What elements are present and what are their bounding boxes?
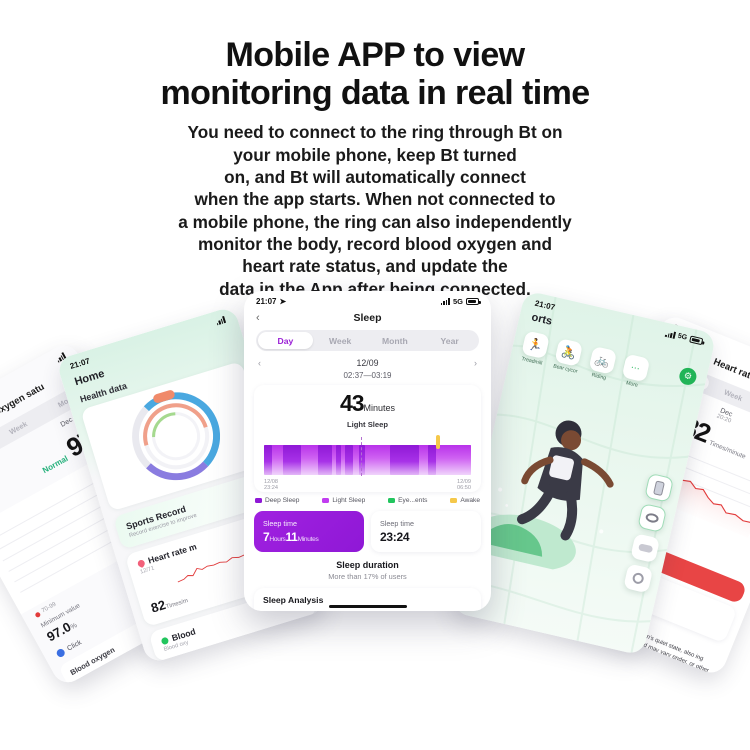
legend-label: Light Sleep: [332, 497, 365, 504]
page-title: Mobile APP to view monitoring data in re…: [0, 0, 750, 112]
analysis-title: Sleep Analysis: [263, 595, 472, 605]
axis-end-date: 12/09: [457, 479, 471, 485]
network-label: 5G: [453, 297, 463, 306]
sleep-minutes-value: 43: [340, 390, 364, 416]
signal-icon: [215, 316, 226, 325]
battery-icon: [689, 336, 703, 345]
legend-swatch-icon: [322, 498, 329, 503]
tab-year[interactable]: Year: [422, 332, 477, 349]
sleep-stage-label: Light Sleep: [254, 417, 481, 429]
gear-icon[interactable]: ⚙: [678, 366, 698, 386]
activity-bike[interactable]: 🚴 Bear cycor: [553, 338, 584, 375]
sleep-bar-segment: [283, 445, 302, 475]
sleep-bar-segment: [345, 445, 353, 475]
sleep-chart-track: [264, 445, 471, 475]
next-day-icon[interactable]: ›: [474, 358, 477, 368]
sleep-stage-chart: [264, 437, 471, 477]
period-tabs[interactable]: Day Week Month Year: [256, 330, 479, 351]
legend-eye-movements: Eye...ents: [388, 497, 427, 504]
sleep-duration-card[interactable]: Sleep time 7Hours11Minutes: [254, 511, 364, 552]
activity-more[interactable]: ⋯ More: [620, 354, 651, 391]
duration-title: Sleep duration: [244, 560, 491, 570]
click-dot-icon: [55, 648, 66, 659]
phone-fan: 21:07 ‹ Blood oxygen satu Day Week Mo ‹ …: [0, 268, 750, 688]
sleep-chart-legend: Deep Sleep Light Sleep Eye...ents Awake: [255, 497, 480, 504]
sleep-summary-card: 43Minutes Light Sleep 12/0823:24 12/0906…: [254, 385, 481, 493]
home-indicator: [329, 605, 407, 608]
sleep-duration-summary: Sleep duration More than 17% of users: [244, 552, 491, 581]
current-date: 12/09: [356, 358, 378, 368]
sleep-hours-unit: Hours: [269, 536, 285, 543]
heart-rate-unit: Times/m: [165, 598, 189, 610]
date-navigator[interactable]: ‹ 12/09 ›: [244, 351, 491, 368]
legend-label: Deep Sleep: [265, 497, 299, 504]
status-bar: 21:07 ➤ 5G: [244, 291, 491, 308]
status-badge: Normal: [41, 454, 69, 475]
legend-label: Eye...ents: [398, 497, 427, 504]
sleep-bar-segment: [264, 445, 272, 475]
axis-end-time: 06:50: [457, 485, 471, 491]
card-label: Sleep time: [380, 519, 472, 528]
minimum-unit: %: [70, 623, 79, 632]
sleep-bar-segment: [365, 445, 390, 475]
sleep-start-time: 23:24: [380, 528, 472, 544]
tab-week[interactable]: Week: [313, 332, 368, 349]
sleep-time-cards: Sleep time 7Hours11Minutes Sleep time 23…: [254, 511, 481, 552]
screen-title: Sleep: [244, 312, 491, 324]
sleep-bar-segment: [419, 445, 427, 475]
sleep-bar-segment: [428, 445, 436, 475]
sleep-bar-segment: [301, 445, 318, 475]
sleep-bar-segment: [440, 445, 471, 475]
desc-line: on, and Bt will automatically connect: [0, 166, 750, 188]
sleep-chart-marker: [361, 437, 362, 476]
heart-rate-unit: Times/minute: [708, 440, 747, 461]
prev-day-icon[interactable]: ‹: [258, 358, 261, 368]
click-label: Click: [66, 639, 83, 652]
legend-light-sleep: Light Sleep: [322, 497, 365, 504]
sleep-headline: 43Minutes: [254, 385, 481, 417]
legend-deep-sleep: Deep Sleep: [255, 497, 299, 504]
axis-start-time: 23:24: [264, 485, 278, 491]
page-title-line1: Mobile APP to view: [225, 36, 524, 74]
axis-start-date: 12/08: [264, 479, 278, 485]
battery-icon: [466, 298, 479, 305]
desc-line: a mobile phone, the ring can also indepe…: [0, 211, 750, 233]
network-label: 5G: [677, 333, 688, 342]
activity-riding[interactable]: 🚲 Riding: [586, 346, 617, 383]
sleep-start-card[interactable]: Sleep time 23:24: [371, 511, 481, 552]
time-range: 02:37—03:19: [244, 368, 491, 380]
phone-sleep[interactable]: 21:07 ➤ 5G ‹ Sleep Day Week Month Year ‹…: [244, 291, 491, 611]
sleep-bar-segment: [272, 445, 282, 475]
card-label: Sleep time: [263, 519, 355, 528]
desc-line: monitor the body, record blood oxygen an…: [0, 233, 750, 255]
nav-bar: ‹ Sleep: [244, 308, 491, 329]
analysis-rows: Deep Sleep 39% 2Hours52Minutes Light Sle…: [314, 610, 472, 611]
duration-subtitle: More than 17% of users: [244, 570, 491, 581]
location-arrow-icon: ➤: [279, 297, 286, 306]
back-icon[interactable]: ‹: [256, 312, 260, 324]
sleep-chart-axis: 12/0823:24 12/0906:50: [264, 479, 471, 493]
sleep-minutes-unit: Minutes: [364, 403, 396, 413]
status-time: 21:07: [256, 297, 276, 306]
desc-line: You need to connect to the ring through …: [0, 121, 750, 143]
tab-month[interactable]: Month: [368, 332, 423, 349]
legend-awake: Awake: [450, 497, 480, 504]
sleep-bar-segment: [390, 445, 419, 475]
hero-section: Mobile APP to view monitoring data in re…: [0, 0, 750, 300]
desc-line: when the app starts. When not connected …: [0, 188, 750, 210]
sleep-minutes-unit: Minutes: [298, 536, 319, 543]
signal-icon: [441, 298, 450, 305]
sleep-bar-segment: [336, 445, 340, 475]
legend-swatch-icon: [450, 498, 457, 503]
sleep-bar-segment: [318, 445, 332, 475]
analysis-row-deep-sleep: Deep Sleep 39% 2Hours52Minutes: [314, 610, 472, 611]
health-rings-chart: [121, 381, 231, 491]
page-title-line2: monitoring data in real time: [0, 74, 750, 112]
sleep-minutes: 11: [285, 530, 297, 544]
legend-swatch-icon: [388, 498, 395, 503]
tab-day[interactable]: Day: [258, 332, 313, 349]
signal-icon: [665, 330, 676, 339]
activity-treadmill[interactable]: 🏃 Treadmill: [519, 330, 550, 367]
legend-label: Awake: [460, 497, 480, 504]
legend-swatch-icon: [255, 498, 262, 503]
desc-line: your mobile phone, keep Bt turned: [0, 144, 750, 166]
